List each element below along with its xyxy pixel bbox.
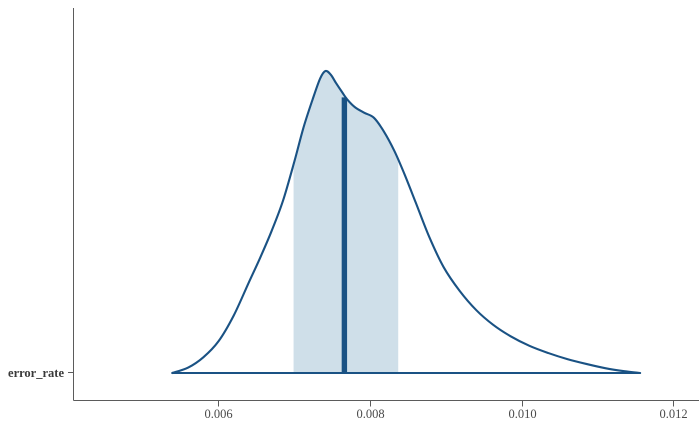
x-axis-tick-label-1: 0.008	[356, 407, 384, 421]
plot-canvas: error_rate 0.006 0.008 0.010 0.012	[0, 0, 700, 432]
x-axis-tick-label-2: 0.010	[508, 407, 536, 421]
y-axis-label-error-rate: error_rate	[8, 366, 64, 380]
x-axis-tick-label-0: 0.006	[204, 407, 232, 421]
density-plot-figure: error_rate 0.006 0.008 0.010 0.012	[0, 0, 700, 432]
x-axis-tick-label-3: 0.012	[659, 407, 687, 421]
